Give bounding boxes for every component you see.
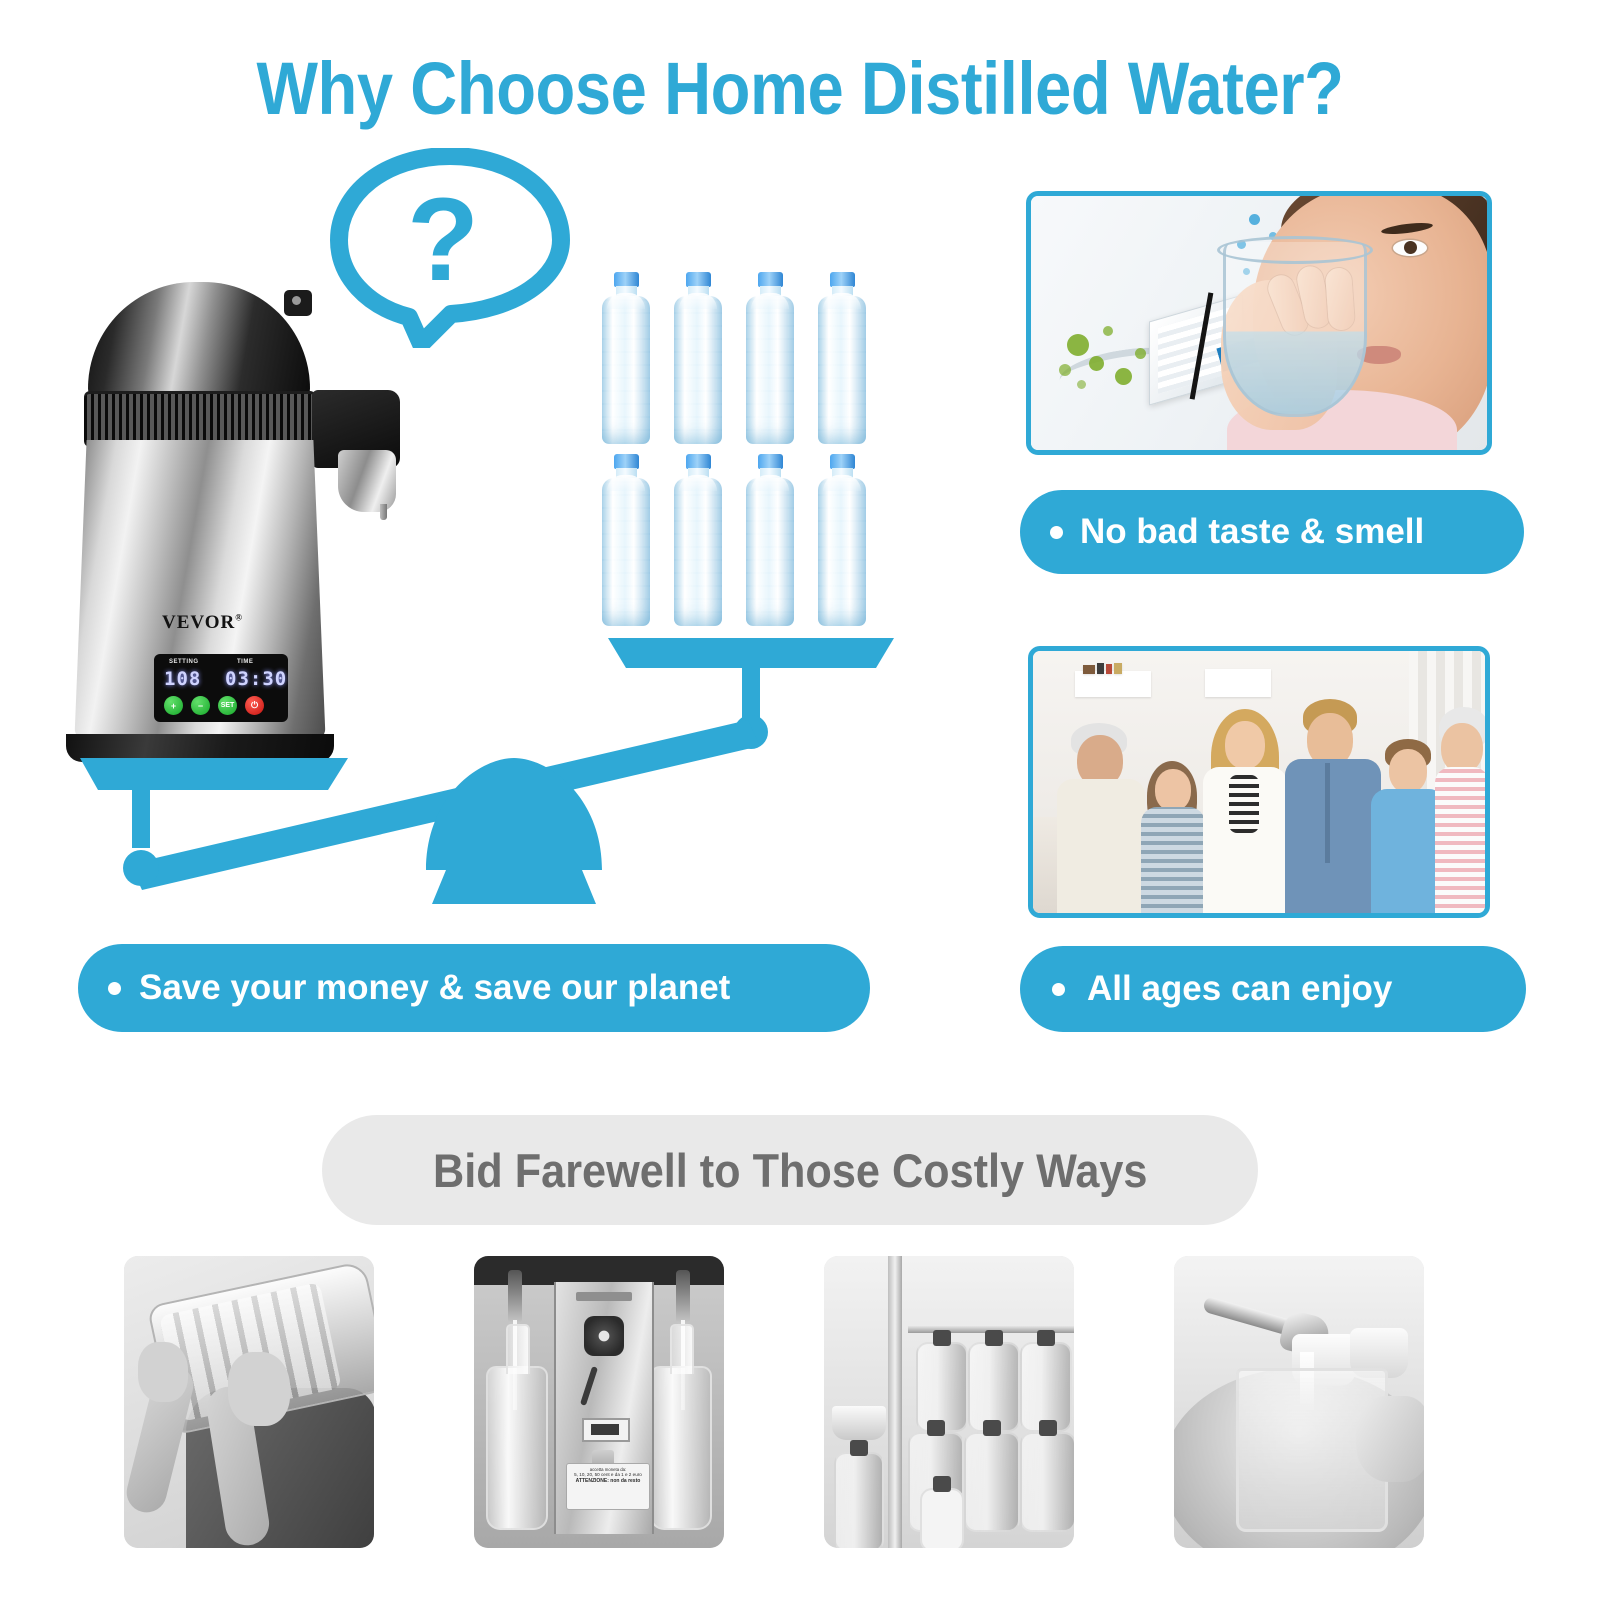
scale-joint-left — [123, 850, 159, 886]
costly-way-jug-store — [824, 1256, 1074, 1548]
costly-way-jug-carry — [124, 1256, 374, 1548]
scale-pan-left — [80, 758, 348, 790]
section-banner-text: Bid Farewell to Those Costly Ways — [433, 1143, 1147, 1198]
drinking-glass — [1223, 242, 1367, 417]
question-mark-glyph: ? — [407, 174, 479, 306]
costly-ways-photo-strip: accetta moneta da: 5, 10, 20, 50 cent e … — [0, 1256, 1600, 1556]
water-jug — [1020, 1432, 1074, 1532]
lid-latch-icon — [284, 290, 312, 316]
wall-frame — [1205, 669, 1271, 697]
family-member-grandfather — [1055, 723, 1147, 913]
glass-bottle — [486, 1366, 548, 1530]
benefit-label-ages: All ages can enjoy — [1087, 969, 1392, 1009]
glass-bottle — [650, 1366, 712, 1530]
sink — [832, 1406, 886, 1440]
dial-icon — [584, 1316, 624, 1356]
water-bottle — [600, 454, 652, 626]
infographic-page: Why Choose Home Distilled Water? ? VEVOR… — [0, 0, 1600, 1600]
water-bottle — [744, 454, 796, 626]
water-bottle — [816, 454, 868, 626]
family-member-mother — [1199, 709, 1291, 913]
family-member-grandmother — [1435, 707, 1489, 913]
water-bottle — [600, 272, 652, 444]
benefit-pill-money: Save your money & save our planet — [78, 944, 870, 1032]
section-banner: Bid Farewell to Those Costly Ways — [322, 1115, 1258, 1225]
benefit-label-money: Save your money & save our planet — [139, 968, 730, 1008]
water-jug — [916, 1342, 968, 1432]
distiller-spout — [312, 390, 400, 510]
benefit-label-taste: No bad taste & smell — [1080, 512, 1424, 552]
photo-all-ages — [1028, 646, 1490, 918]
benefit-pill-taste: No bad taste & smell — [1020, 490, 1524, 574]
vending-note-line3: ATTENZIONE: non da resto — [569, 1478, 647, 1484]
wall-shelf — [1075, 671, 1151, 697]
water-bottle — [672, 454, 724, 626]
balance-scale — [70, 620, 910, 920]
scale-pan-right — [608, 638, 894, 668]
water-jug — [1020, 1342, 1072, 1432]
eye — [1393, 240, 1427, 256]
water-jug — [964, 1432, 1020, 1532]
water-jug — [968, 1342, 1020, 1432]
fan-vent-grille — [84, 394, 316, 444]
benefit-pill-ages: All ages can enjoy — [1020, 946, 1526, 1032]
distiller-lid — [88, 282, 310, 402]
white-bottle — [920, 1488, 964, 1548]
lever-icon — [580, 1366, 598, 1406]
plastic-bottles-group — [600, 272, 890, 632]
bullet-dot-icon — [1052, 983, 1065, 996]
water-jug — [834, 1452, 884, 1548]
bullet-dot-icon — [1050, 526, 1063, 539]
water-bottle — [744, 272, 796, 444]
costly-way-tap-filter — [1174, 1256, 1424, 1548]
hand — [1356, 1396, 1424, 1482]
costly-way-vending-machine: accetta moneta da: 5, 10, 20, 50 cent e … — [474, 1256, 724, 1548]
page-title: Why Choose Home Distilled Water? — [96, 46, 1504, 131]
photo-no-bad-taste — [1026, 191, 1492, 455]
water-bottle — [672, 272, 724, 444]
water-bottle — [816, 272, 868, 444]
vending-control-panel: accetta moneta da: 5, 10, 20, 50 cent e … — [554, 1282, 654, 1534]
vending-instruction-note: accetta moneta da: 5, 10, 20, 50 cent e … — [566, 1463, 650, 1510]
bullet-dot-icon — [108, 982, 121, 995]
